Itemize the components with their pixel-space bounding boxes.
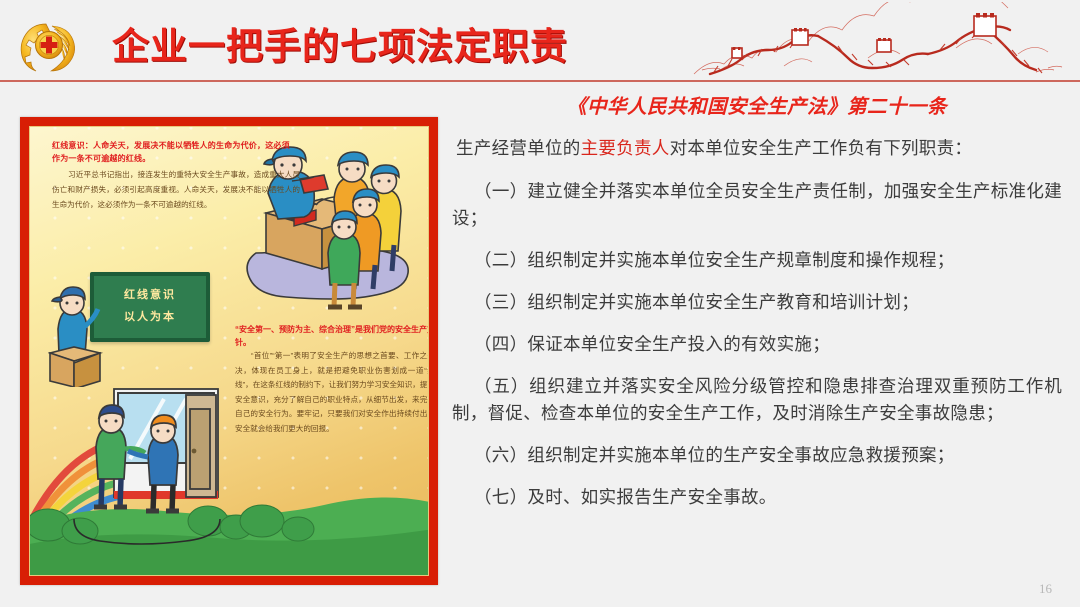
safety-production-emblem-icon — [18, 18, 80, 73]
law-intro: 生产经营单位的主要负责人对本单位安全生产工作负有下列职责： — [456, 135, 1062, 161]
law-intro-after: 对本单位安全生产工作负有下列职责： — [670, 138, 973, 158]
poster-headline: 红线意识：人命关天，发展决不能以牺牲人的生命为代价，这必须作为一条不可逾越的红线… — [52, 139, 297, 165]
blackboard-line-1: 红线意识 — [94, 284, 206, 306]
law-item-1: （一）建立健全并落实本单位全员安全生产责任制，加强安全生产标准化建设； — [452, 178, 1062, 232]
teacher-figure-illustration — [48, 277, 104, 387]
law-item-7: （七）及时、如实报告生产安全事故。 — [452, 484, 1062, 511]
slide: 企业一把手的七项法定职责 — [0, 0, 1080, 607]
law-item-5: （五）组织建立并落实安全风险分级管控和隐患排查治理双重预防工作机制，督促、检查本… — [452, 373, 1062, 427]
header-divider — [0, 80, 1080, 82]
poster-body-text: 习近平总书记指出，接连发生的重特大安全生产事故，造成重大人员伤亡和财产损失，必须… — [52, 167, 300, 212]
blackboard-text: 红线意识 以人为本 — [94, 284, 206, 328]
bottom-scene-illustration — [30, 375, 428, 575]
law-item-6: （六）组织制定并实施本单位的生产安全事故应急救援预案； — [452, 442, 1062, 469]
law-intro-before: 生产经营单位的 — [456, 138, 581, 158]
great-wall-illustration-icon — [688, 2, 1080, 80]
law-item-2: （二）组织制定并实施本单位安全生产规章制度和操作规程； — [452, 247, 1062, 274]
blackboard: 红线意识 以人为本 — [90, 272, 210, 342]
safety-poster-image: 红线意识：人命关天，发展决不能以牺牲人的生命为代价，这必须作为一条不可逾越的红线… — [20, 117, 438, 585]
page-number: 16 — [1039, 581, 1052, 597]
page-title: 企业一把手的七项法定职责 — [112, 16, 568, 70]
law-content-panel: 《中华人民共和国安全生产法》第二十一条 生产经营单位的主要负责人对本单位安全生产… — [452, 90, 1062, 595]
law-intro-highlight: 主要负责人 — [581, 138, 670, 158]
poster-headline-2: “安全第一、预防为主、综合治理”是我们党的安全生产方针。 — [235, 323, 429, 349]
slide-header: 企业一把手的七项法定职责 — [0, 0, 1080, 82]
blackboard-line-2: 以人为本 — [94, 306, 206, 328]
law-item-4: （四）保证本单位安全生产投入的有效实施； — [452, 331, 1062, 358]
law-item-3: （三）组织制定并实施本单位安全生产教育和培训计划； — [452, 289, 1062, 316]
law-heading: 《中华人民共和国安全生产法》第二十一条 — [452, 90, 1062, 119]
